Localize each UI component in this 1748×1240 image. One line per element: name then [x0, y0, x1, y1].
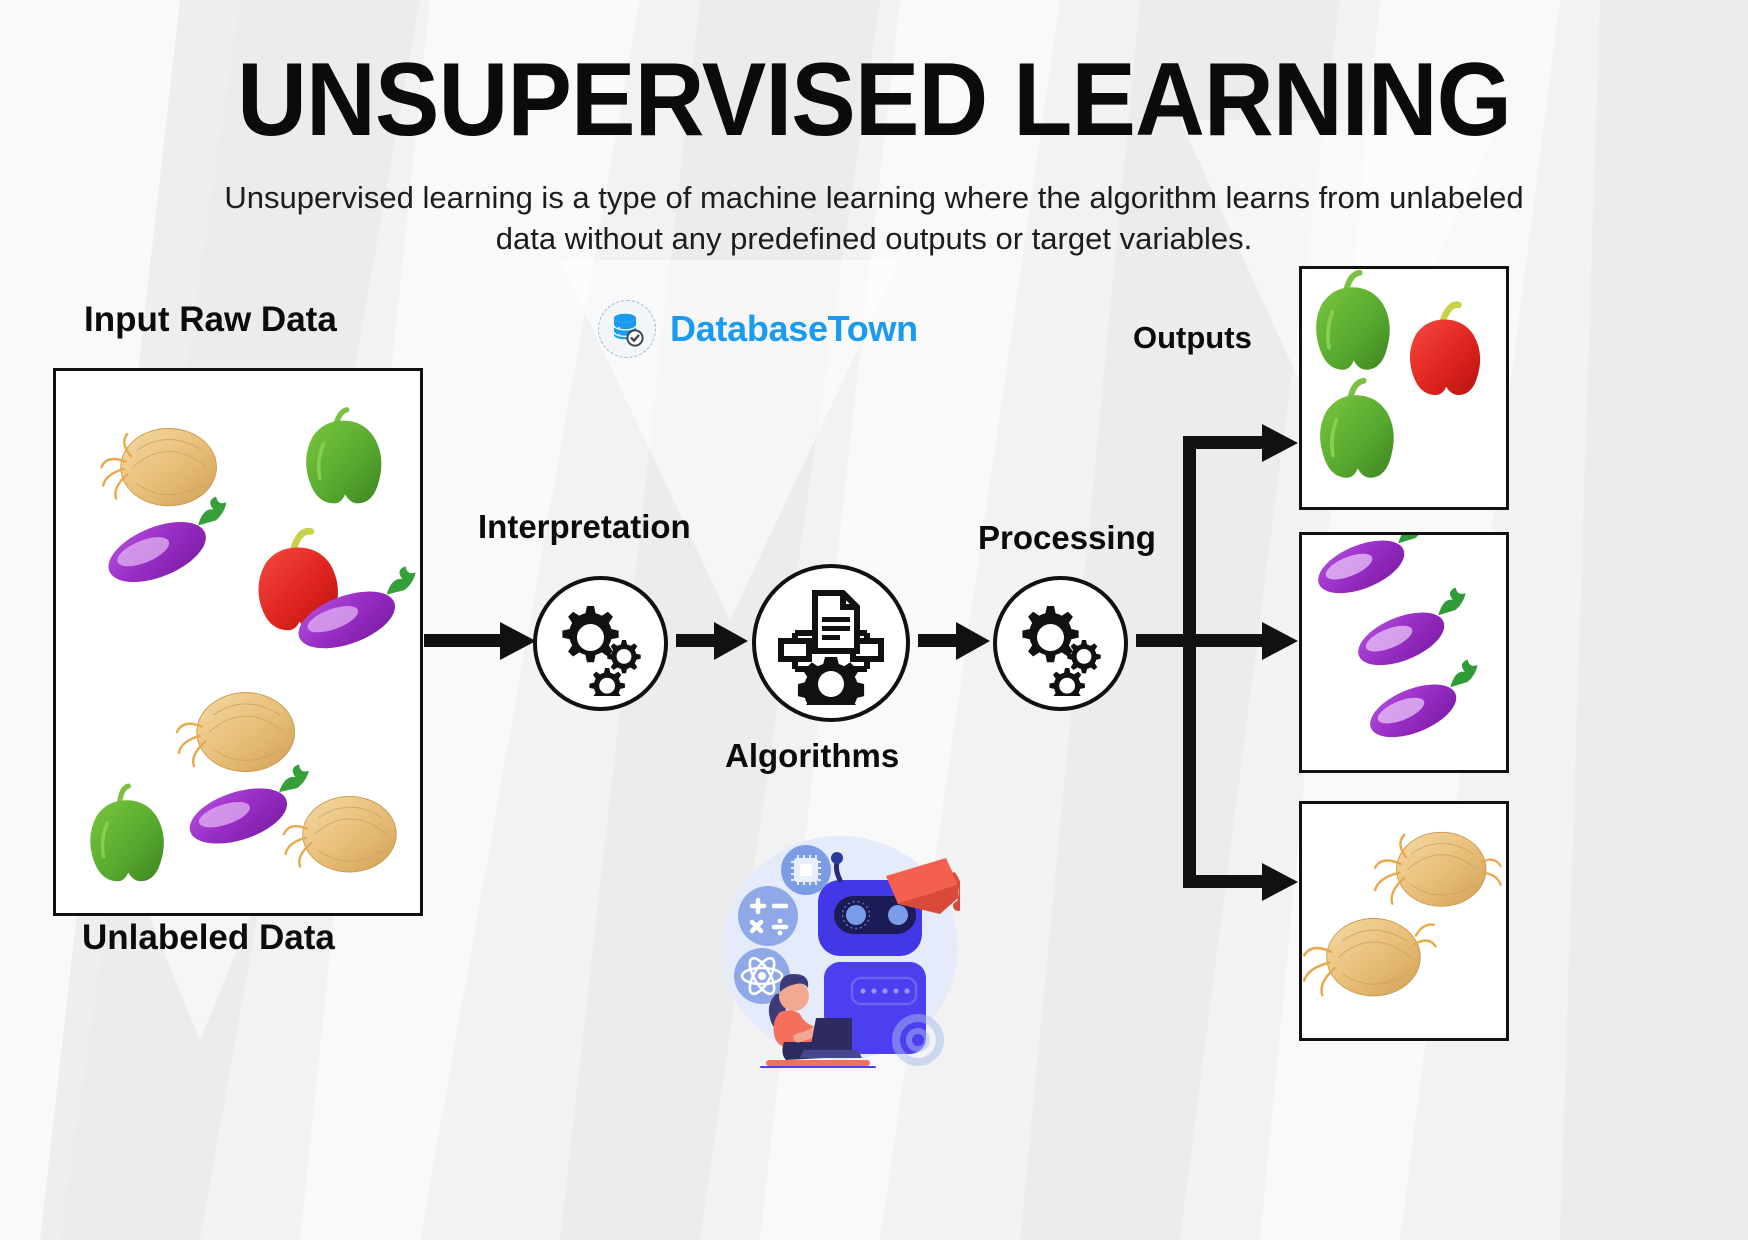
books-stack — [760, 1060, 876, 1068]
outputs-label: Outputs — [1133, 320, 1252, 356]
veg-pepper — [90, 786, 164, 881]
veg-onion — [1375, 832, 1501, 906]
veg-eggplant — [1349, 585, 1481, 676]
veg-eggplant — [1309, 535, 1441, 604]
gears-icon — [549, 592, 653, 696]
input-raw-data-label: Input Raw Data — [84, 300, 337, 340]
interpretation-step-icon[interactable] — [533, 576, 668, 711]
veg-eggplant — [1361, 657, 1493, 748]
input-raw-data-panel — [53, 368, 423, 916]
chip-icon — [781, 845, 831, 895]
veg-eggplant — [181, 762, 323, 854]
veg-onion — [101, 429, 216, 506]
gears-icon — [1009, 592, 1113, 696]
flowchart-document-gear-icon — [769, 581, 893, 705]
veg-onion — [1304, 919, 1435, 996]
algorithms-label: Algorithms — [725, 737, 899, 775]
veg-pepper — [1316, 273, 1390, 370]
brand-logo[interactable]: DatabaseTown — [598, 300, 918, 358]
processing-step-icon[interactable] — [993, 576, 1128, 711]
math-operators-icon — [738, 886, 798, 946]
veg-pepper — [1410, 305, 1480, 395]
output-cluster-eggplants — [1299, 532, 1509, 773]
algorithms-step-icon[interactable] — [752, 564, 910, 722]
database-check-icon — [598, 300, 656, 358]
output-cluster-onions — [1299, 801, 1509, 1041]
veg-pepper — [1320, 381, 1394, 478]
unlabeled-data-label: Unlabeled Data — [82, 918, 335, 958]
brand-name: DatabaseTown — [670, 308, 918, 350]
processing-label: Processing — [978, 519, 1156, 557]
page-title: UNSUPERVISED LEARNING — [61, 48, 1687, 152]
page-subtitle: Unsupervised learning is a type of machi… — [214, 178, 1534, 260]
page-header: UNSUPERVISED LEARNING Unsupervised learn… — [0, 0, 1748, 260]
veg-eggplant — [98, 494, 243, 595]
interpretation-label: Interpretation — [478, 508, 691, 546]
veg-pepper — [306, 410, 381, 504]
veg-onion — [177, 693, 295, 772]
robot-student-illustration — [700, 828, 960, 1068]
veg-onion — [284, 796, 397, 872]
output-cluster-peppers — [1299, 266, 1509, 510]
